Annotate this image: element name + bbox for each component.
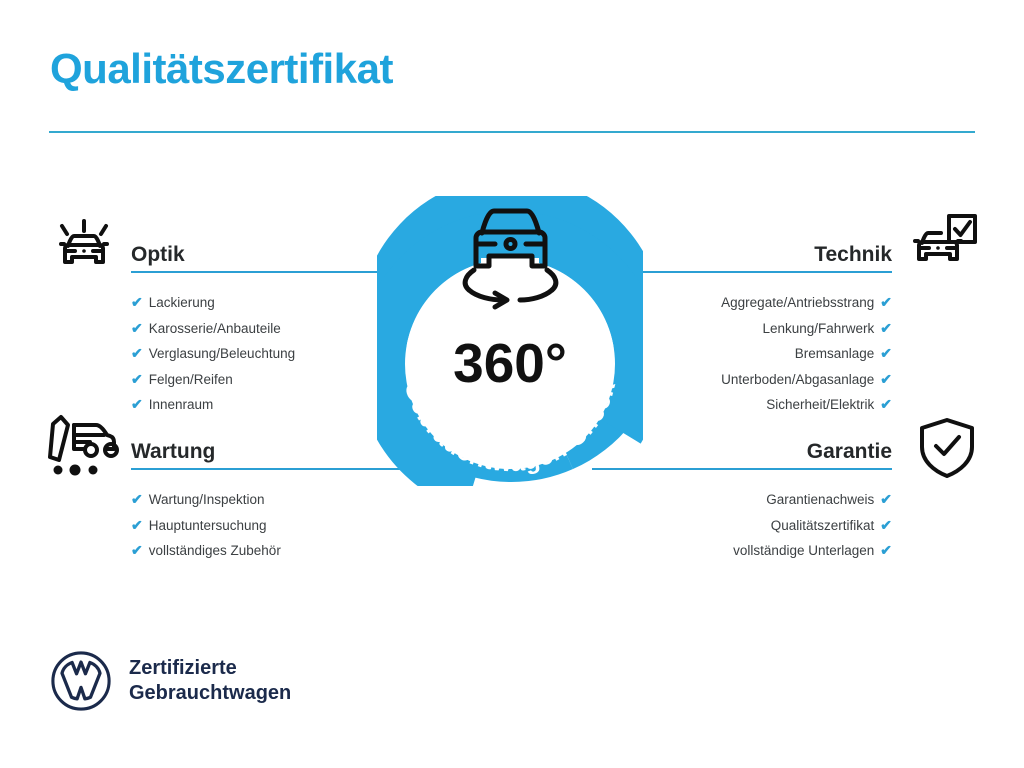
check-icon: ✔ bbox=[880, 316, 892, 341]
list-item: vollständige Unterlagen✔ bbox=[592, 538, 892, 564]
list-item-label: Bremsanlage bbox=[795, 342, 875, 367]
list-item: Garantienachweis✔ bbox=[592, 487, 892, 513]
check-icon: ✔ bbox=[880, 392, 892, 417]
list-item-label: Sicherheit/Elektrik bbox=[766, 393, 874, 418]
list-item: Qualitätszertifikat✔ bbox=[592, 513, 892, 539]
check-icon: ✔ bbox=[880, 538, 892, 563]
check-icon: ✔ bbox=[880, 290, 892, 315]
section-garantie-list: Garantienachweis✔ Qualitätszertifikat✔ v… bbox=[592, 487, 892, 564]
list-item-label: Lackierung bbox=[149, 291, 215, 316]
list-item-label: Verglasung/Beleuchtung bbox=[149, 342, 295, 367]
list-item-label: Wartung/Inspektion bbox=[149, 488, 265, 513]
certificate-page: Qualitätszertifikat Optik ✔Lackierung ✔K… bbox=[0, 0, 1024, 768]
list-item-label: Hauptuntersuchung bbox=[149, 514, 267, 539]
list-item: ✔vollständiges Zubehör bbox=[131, 538, 431, 564]
list-item-label: Unterboden/Abgasanlage bbox=[721, 368, 874, 393]
vw-logo: Zertifizierte Gebrauchtwagen bbox=[50, 650, 291, 712]
gebrauchtwagen-check-badge: Gebrauchtwagen-Check 360° bbox=[377, 196, 643, 486]
section-wartung-list: ✔Wartung/Inspektion ✔Hauptuntersuchung ✔… bbox=[131, 487, 431, 564]
list-item-label: Karosserie/Anbauteile bbox=[149, 317, 281, 342]
car-checkbox-icon bbox=[908, 208, 980, 280]
check-icon: ✔ bbox=[131, 316, 143, 341]
car-lift-service-icon bbox=[44, 410, 122, 482]
list-item-label: Aggregate/Antriebsstrang bbox=[721, 291, 874, 316]
badge-center-text: 360° bbox=[453, 332, 567, 394]
check-icon: ✔ bbox=[131, 392, 143, 417]
list-item-label: Innenraum bbox=[149, 393, 214, 418]
check-icon: ✔ bbox=[880, 367, 892, 392]
list-item-label: vollständiges Zubehör bbox=[149, 539, 281, 564]
list-item-label: Qualitätszertifikat bbox=[771, 514, 875, 539]
list-item-label: Lenkung/Fahrwerk bbox=[762, 317, 874, 342]
title-divider bbox=[49, 131, 975, 133]
check-icon: ✔ bbox=[131, 513, 143, 538]
check-icon: ✔ bbox=[131, 341, 143, 366]
vw-wordmark: Zertifizierte Gebrauchtwagen bbox=[129, 656, 291, 706]
page-title: Qualitätszertifikat bbox=[50, 48, 393, 90]
shield-check-icon bbox=[914, 414, 980, 482]
check-icon: ✔ bbox=[880, 341, 892, 366]
check-icon: ✔ bbox=[880, 487, 892, 512]
list-item: ✔Wartung/Inspektion bbox=[131, 487, 431, 513]
vw-wordmark-line2: Gebrauchtwagen bbox=[129, 681, 291, 706]
check-icon: ✔ bbox=[131, 538, 143, 563]
list-item-label: Felgen/Reifen bbox=[149, 368, 233, 393]
car-shine-icon bbox=[48, 208, 120, 280]
list-item-label: vollständige Unterlagen bbox=[733, 539, 874, 564]
check-icon: ✔ bbox=[880, 513, 892, 538]
check-icon: ✔ bbox=[131, 367, 143, 392]
check-icon: ✔ bbox=[131, 290, 143, 315]
vw-wordmark-line1: Zertifizierte bbox=[129, 656, 291, 681]
vw-roundel-icon bbox=[50, 650, 112, 712]
check-icon: ✔ bbox=[131, 487, 143, 512]
list-item-label: Garantienachweis bbox=[766, 488, 874, 513]
list-item: ✔Hauptuntersuchung bbox=[131, 513, 431, 539]
